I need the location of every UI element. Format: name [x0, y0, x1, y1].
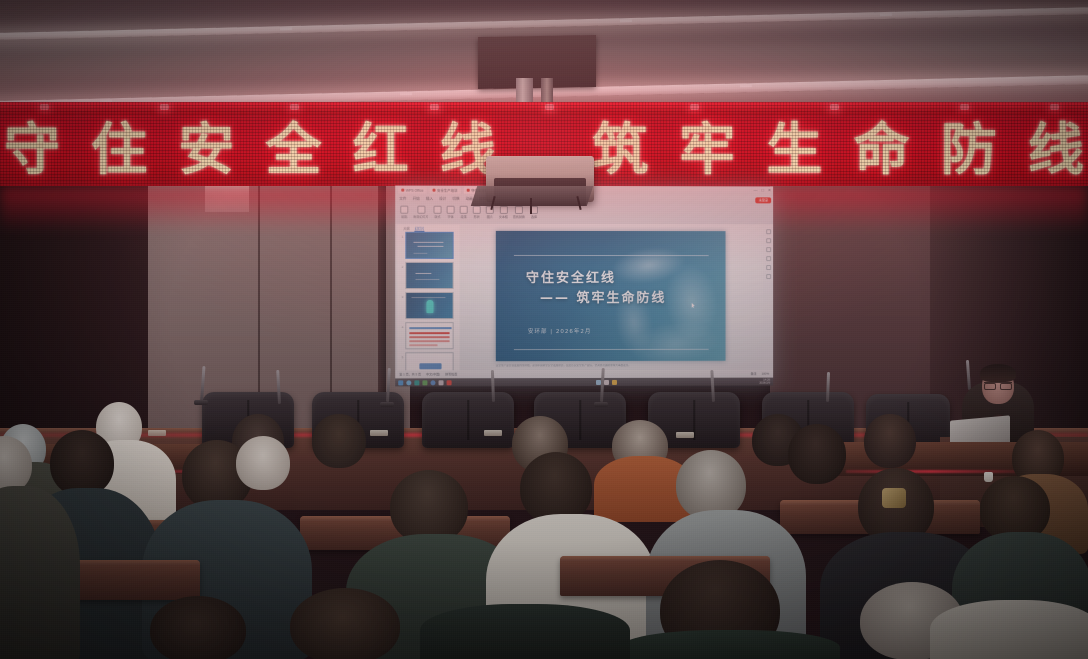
wps-logo-icon — [401, 189, 404, 192]
slide-divider-top — [514, 255, 709, 256]
chrome-icon[interactable] — [430, 380, 435, 385]
ribbon-button[interactable]: 粘贴 — [400, 206, 408, 219]
wps-tab-label: WPS Office — [406, 188, 424, 192]
glasses-icon — [984, 382, 1012, 387]
window-controls: — □ ✕ — [754, 187, 772, 192]
wps-icon[interactable] — [439, 380, 444, 385]
search-icon[interactable] — [406, 380, 411, 385]
thumbnail-button-shape — [419, 363, 441, 369]
slide-title: 守住安全红线 —— 筑牢生命防线 — [526, 269, 666, 308]
network-icon[interactable] — [596, 379, 601, 384]
find-replace-icon — [515, 206, 523, 214]
led-char: 安 — [178, 123, 234, 179]
wps-tab-label: 安全生产培训 — [437, 188, 457, 193]
thumbnail-row[interactable]: 4 — [399, 322, 457, 349]
ribbon-label: 粘贴 — [401, 215, 407, 219]
figure-graphic — [426, 300, 433, 313]
wps-office-window[interactable]: WPS Office 安全生产培训 守住安全红线.pptx — □ ✕ — [395, 186, 773, 387]
slide-subtitle: 安环部 | 2026年2月 — [528, 327, 591, 335]
ribbon-button[interactable]: 查找替换 — [513, 206, 525, 219]
thumbnail-number: 3 — [399, 292, 403, 299]
slide-thumbnail-2[interactable] — [405, 262, 453, 289]
led-char: 红 — [353, 123, 409, 179]
notes-toggle[interactable]: 备注 — [751, 372, 757, 376]
menu-item-insert[interactable]: 插入 — [426, 197, 433, 202]
properties-icon[interactable] — [766, 229, 771, 234]
presentation-icon — [467, 189, 470, 192]
thumbnail-number: 5 — [399, 352, 403, 359]
menu-item-transition[interactable]: 切换 — [452, 197, 459, 202]
projector-bracket-base — [471, 186, 593, 206]
maximize-icon[interactable]: □ — [761, 187, 763, 192]
projection-screen: WPS Office 安全生产培训 守住安全红线.pptx — □ ✕ — [395, 186, 773, 387]
microphone-base — [380, 402, 394, 407]
led-char: 住 — [91, 123, 147, 179]
ribbon-label: 段落 — [461, 215, 467, 219]
ribbon-button[interactable]: 段落 — [460, 206, 468, 219]
led-char: 生 — [766, 123, 822, 179]
menu-item-file[interactable]: 文件 — [399, 197, 406, 202]
name-plate — [370, 430, 388, 436]
paper-cup — [984, 472, 993, 482]
wps-ribbon: 粘贴 新建幻灯片 版式 字体 段落 — [395, 204, 773, 225]
thumbnail-row[interactable]: 1 — [399, 232, 457, 259]
ribbon-label: 字体 — [448, 215, 454, 219]
ribbon-label: 形状 — [474, 215, 480, 219]
document-icon — [432, 189, 435, 192]
slide-thumbnail-3[interactable] — [405, 292, 453, 319]
clock-date: 2026/2/9 — [759, 381, 770, 385]
slide-thumbnail-4[interactable] — [405, 322, 453, 349]
new-slide-icon — [417, 206, 425, 214]
ribbon-button[interactable]: 文本框 — [499, 206, 508, 219]
led-char: 命 — [854, 123, 910, 179]
thumbnail-number: 4 — [399, 322, 403, 329]
right-tool-sidebar[interactable] — [763, 225, 773, 369]
windows-taskbar[interactable]: 14:26 2026/2/9 — [395, 378, 773, 387]
led-char: 筑 — [592, 123, 648, 179]
paste-icon — [400, 206, 408, 214]
spellcheck-indicator[interactable]: 拼写检查 — [445, 372, 457, 376]
projector-mount-plate — [478, 35, 596, 89]
font-icon — [447, 206, 455, 214]
name-plate — [676, 432, 694, 438]
slide-title-line-1: 守住安全红线 — [526, 271, 616, 286]
led-char: 全 — [265, 123, 321, 179]
name-plate — [484, 430, 502, 436]
edge-icon[interactable] — [414, 380, 419, 385]
slide-thumbnail-1[interactable] — [405, 232, 453, 259]
thumbnail-number: 2 — [399, 262, 403, 269]
thumbnail-row[interactable]: 3 — [399, 292, 457, 319]
head-table-chair — [422, 392, 514, 448]
animation-pane-icon[interactable] — [766, 256, 771, 261]
shape-fill-icon[interactable] — [766, 247, 771, 252]
ribbon-label: 图片 — [487, 215, 493, 219]
volume-icon[interactable] — [604, 379, 609, 384]
slide-canvas[interactable]: 守住安全红线 —— 筑牢生命防线 安环部 | 2026年2月 — [496, 231, 726, 361]
led-char: 线 — [1028, 123, 1084, 179]
wps-tab[interactable]: 安全生产培训 — [429, 187, 460, 194]
projector-bracket-arm — [530, 198, 532, 214]
mail-icon[interactable] — [447, 380, 452, 385]
ribbon-label: 查找替换 — [513, 215, 525, 219]
ribbon-button[interactable]: 版式 — [434, 206, 442, 219]
presenter-hair — [980, 364, 1016, 382]
ribbon-button[interactable]: 字体 — [447, 206, 455, 219]
ribbon-label: 选择 — [531, 215, 537, 219]
zoom-level[interactable]: 100% — [762, 372, 770, 376]
menu-item-design[interactable]: 设计 — [439, 197, 446, 202]
ribbon-label: 文本框 — [499, 215, 508, 219]
wps-tab[interactable]: WPS Office — [398, 187, 426, 194]
windows-start-icon[interactable] — [398, 380, 403, 385]
input-method-icon[interactable] — [612, 379, 617, 384]
thumbnail-row[interactable]: 2 — [399, 262, 457, 289]
layout-icon — [434, 206, 442, 214]
cloud-icon[interactable] — [766, 274, 771, 279]
led-char: 牢 — [679, 123, 735, 179]
taskbar-clock[interactable]: 14:26 2026/2/9 — [759, 379, 770, 385]
thumbnail-number: 1 — [399, 232, 403, 239]
name-plate — [148, 430, 166, 436]
language-indicator[interactable]: 中文(中国) — [426, 372, 440, 376]
resource-icon[interactable] — [766, 265, 771, 270]
ribbon-label: 新建幻灯片 — [413, 215, 428, 219]
folder-icon[interactable] — [422, 380, 427, 385]
close-icon[interactable]: ✕ — [768, 187, 771, 192]
slide-counter: 第 1 页，共 5 页 — [399, 372, 421, 376]
microphone-base — [594, 402, 608, 407]
microphone-base — [194, 400, 208, 405]
minimize-icon[interactable]: — — [754, 187, 758, 192]
conference-hall-photo: 守 住 安 全 红 线 筑 牢 生 命 防 线 WPS — [0, 0, 1088, 659]
slide-thumbnail-panel[interactable]: 大纲 幻灯片 1 2 — [397, 225, 459, 371]
ribbon-button[interactable]: 新建幻灯片 — [413, 206, 428, 219]
led-char: 守 — [4, 123, 60, 179]
menu-item-home[interactable]: 开始 — [413, 197, 420, 202]
ribbon-button[interactable]: 形状 — [473, 206, 481, 219]
slide-title-line-2: —— 筑牢生命防线 — [526, 288, 666, 308]
hair-clip — [882, 488, 906, 508]
shape-icon — [473, 206, 481, 214]
ribbon-label: 版式 — [435, 215, 441, 219]
account-button[interactable]: 未登录 — [756, 197, 771, 203]
led-banner-top-pixel-row — [0, 102, 1088, 114]
paragraph-icon — [460, 206, 468, 214]
led-char: 防 — [941, 123, 997, 179]
design-ideas-icon[interactable] — [766, 238, 771, 243]
textbox-icon — [499, 206, 507, 214]
